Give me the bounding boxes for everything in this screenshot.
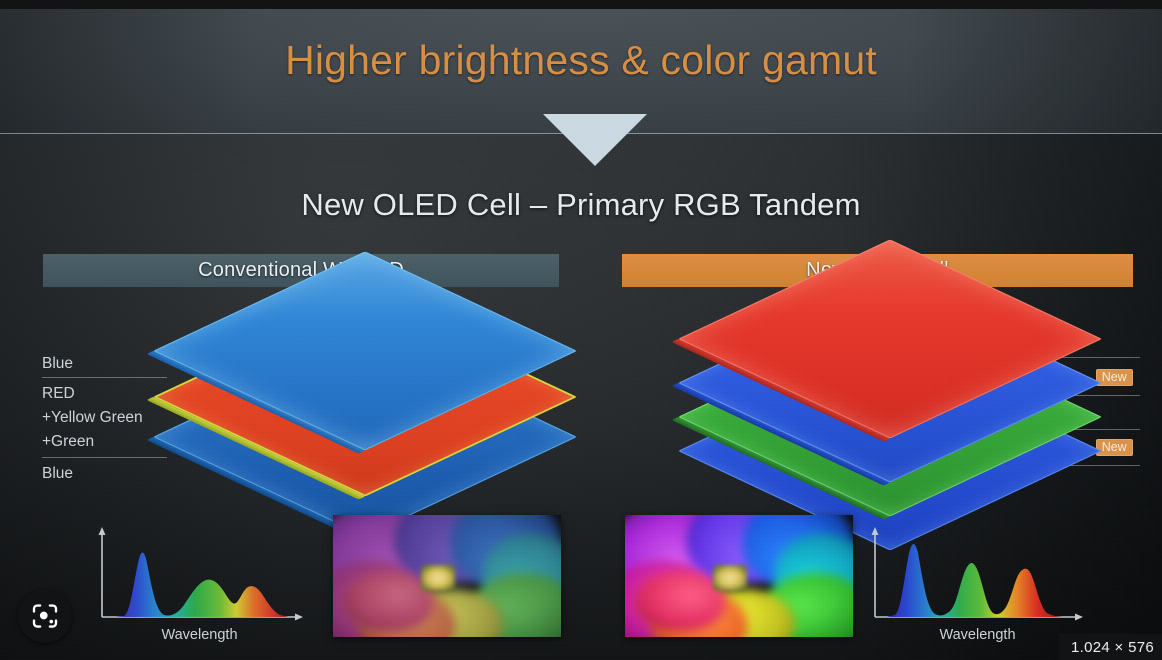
page-title: Higher brightness & color gamut — [0, 37, 1162, 84]
left-label-blue-top: Blue — [42, 355, 73, 373]
left-label-blue-bottom: Blue — [42, 465, 73, 483]
chart-conventional-spectrum: Wavelength — [92, 527, 307, 647]
new-badge-2: New — [1096, 439, 1133, 456]
left-label-red: RED — [42, 385, 75, 403]
left-label-green: +Green — [42, 433, 94, 451]
conventional-spectrum-svg — [92, 527, 307, 632]
chart-new-oled-spectrum: Wavelength — [865, 527, 1090, 647]
flower-photo-conventional — [333, 515, 561, 637]
left-label-divider-1 — [42, 377, 167, 378]
resolution-badge: 1.024 × 576 — [1059, 634, 1162, 660]
flower-photo-new-oled — [625, 515, 853, 637]
presentation-slide: Higher brightness & color gamut New OLED… — [0, 9, 1162, 660]
slide-subtitle: New OLED Cell – Primary RGB Tandem — [0, 187, 1162, 223]
left-label-divider-2 — [42, 457, 167, 458]
viewer-top-bar — [0, 0, 1162, 9]
left-label-yellow-green: +Yellow Green — [42, 409, 143, 427]
new-oled-chart-xlabel: Wavelength — [865, 627, 1090, 643]
google-lens-button[interactable] — [18, 589, 72, 643]
google-lens-icon — [30, 601, 60, 631]
down-triangle-icon — [543, 114, 647, 166]
new-badge-1: New — [1096, 369, 1133, 386]
conventional-chart-xlabel: Wavelength — [92, 627, 307, 643]
new-oled-spectrum-svg — [865, 527, 1090, 632]
